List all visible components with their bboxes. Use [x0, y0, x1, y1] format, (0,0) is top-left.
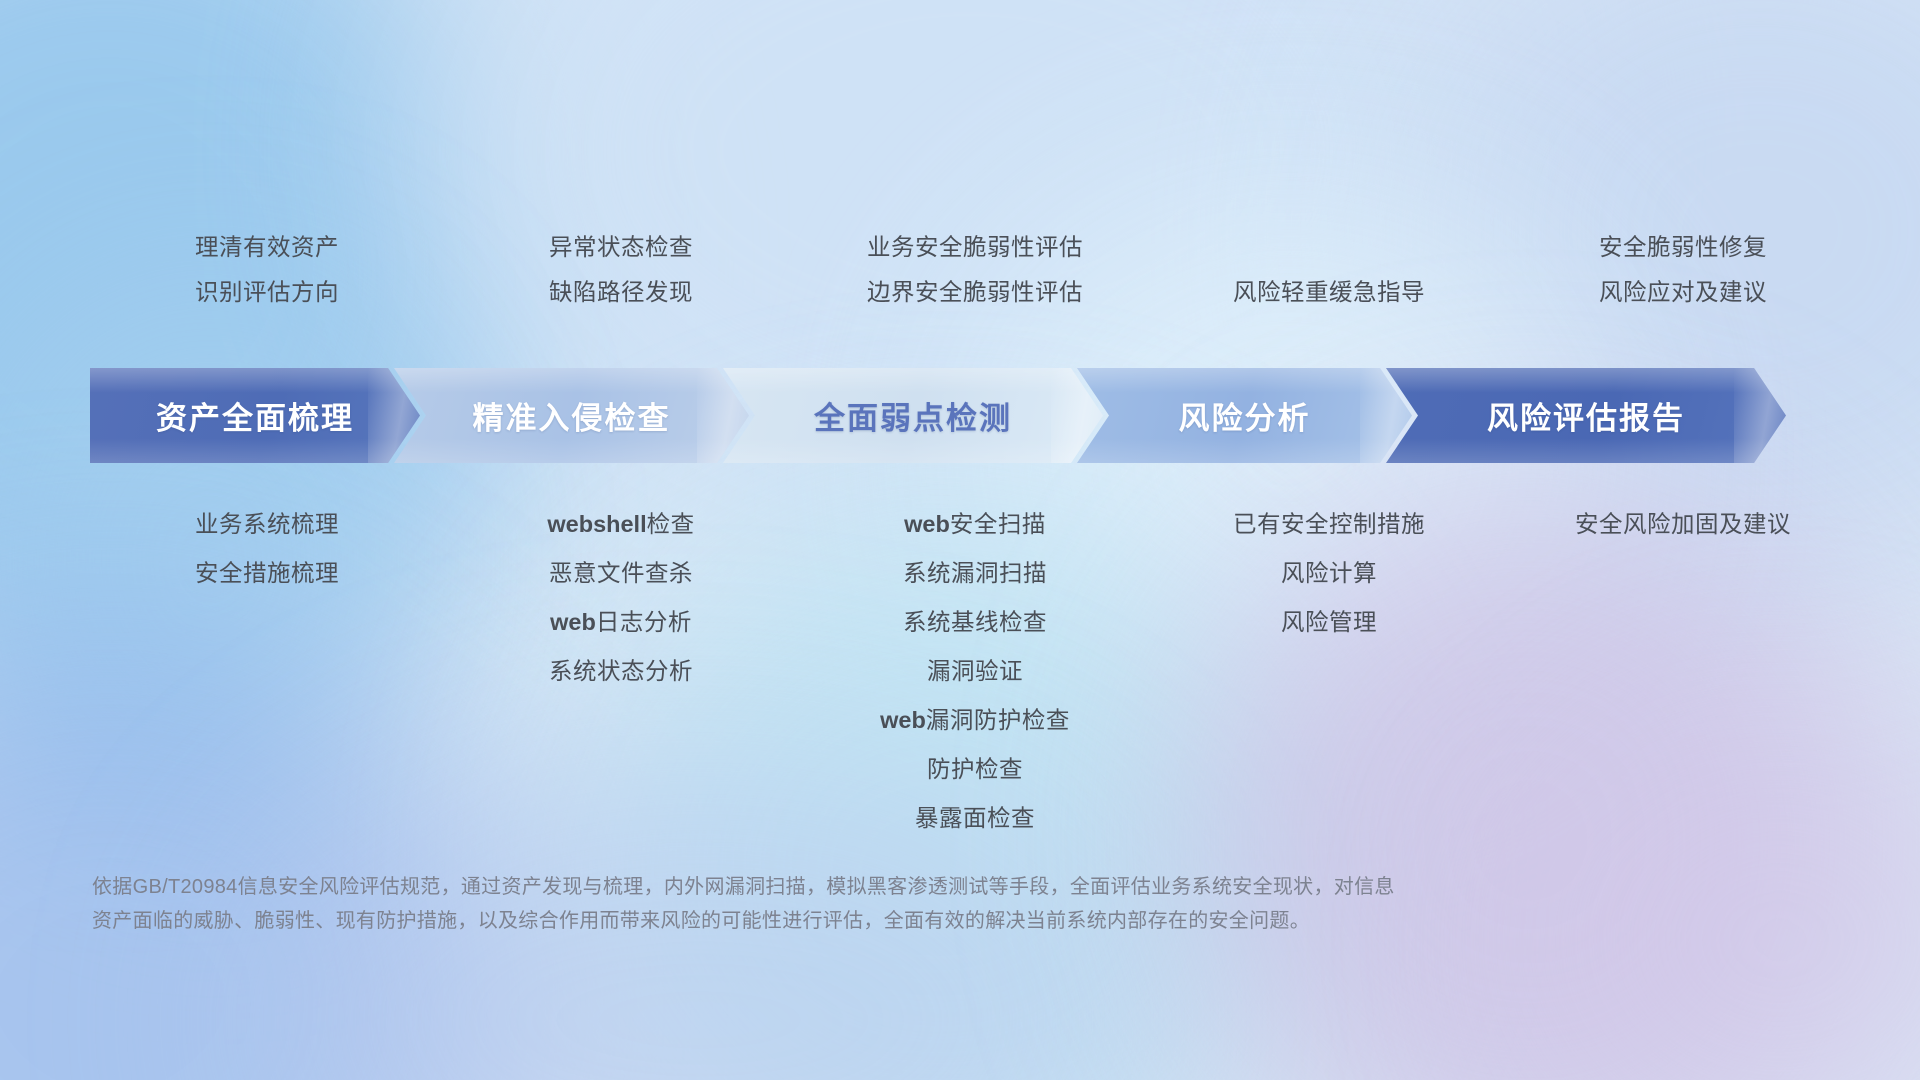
note-item: 边界安全脆弱性评估: [867, 270, 1083, 315]
stage-arrow-risk-analysis[interactable]: 风险分析: [1077, 368, 1412, 463]
stage-arrow-label: 全面弱点检测: [814, 393, 1012, 438]
bottom-notes-asset-inventory: 业务系统梳理安全措施梳理: [90, 500, 444, 850]
note-item: 缺陷路径发现: [549, 270, 693, 315]
note-text: 安全风险加固及建议: [1575, 511, 1791, 537]
top-notes-risk-report: 安全脆弱性修复风险应对及建议: [1506, 225, 1860, 335]
stage-arrow-risk-report[interactable]: 风险评估报告: [1386, 368, 1786, 463]
note-item: 防护检查: [927, 745, 1023, 794]
note-item: 已有安全控制措施: [1233, 500, 1425, 549]
note-text: 恶意文件查杀: [549, 560, 693, 586]
note-text: 漏洞防护检查: [926, 707, 1070, 733]
note-item: 理清有效资产: [195, 225, 339, 270]
note-item: 安全措施梳理: [195, 549, 339, 598]
note-item: 风险管理: [1281, 598, 1377, 647]
footer-line-2: 资产面临的威胁、脆弱性、现有防护措施，以及综合作用而带来风险的可能性进行评估，全…: [92, 904, 1652, 938]
note-text: 已有安全控制措施: [1233, 511, 1425, 537]
note-item: 业务系统梳理: [195, 500, 339, 549]
stage-arrow-label: 风险分析: [1179, 393, 1311, 438]
note-text: 业务系统梳理: [195, 511, 339, 537]
note-item: 异常状态检查: [549, 225, 693, 270]
bottom-notes-risk-report: 安全风险加固及建议: [1506, 500, 1860, 850]
note-item: web日志分析: [550, 598, 692, 647]
note-item: 恶意文件查杀: [549, 549, 693, 598]
note-item: 漏洞验证: [927, 647, 1023, 696]
stage-arrow-asset-inventory[interactable]: 资产全面梳理: [90, 368, 420, 463]
note-item: 风险应对及建议: [1599, 270, 1767, 315]
note-text: 系统基线检查: [903, 609, 1047, 635]
process-arrow-banner: 资产全面梳理精准入侵检查全面弱点检测风险分析风险评估报告: [90, 368, 1860, 463]
note-keyword: web: [880, 707, 926, 733]
stage-arrow-label: 风险评估报告: [1487, 393, 1685, 438]
note-item: 业务安全脆弱性评估: [867, 225, 1083, 270]
top-notes-row: 理清有效资产识别评估方向异常状态检查缺陷路径发现业务安全脆弱性评估边界安全脆弱性…: [90, 225, 1860, 335]
note-item: 系统基线检查: [903, 598, 1047, 647]
note-text: 暴露面检查: [915, 805, 1035, 831]
note-item: webshell检查: [547, 500, 694, 549]
footer-line-1: 依据GB/T20984信息安全风险评估规范，通过资产发现与梳理，内外网漏洞扫描，…: [92, 870, 1652, 904]
note-text: 防护检查: [927, 756, 1023, 782]
note-item: 风险计算: [1281, 549, 1377, 598]
note-item: 暴露面检查: [915, 794, 1035, 843]
stage-arrow-weakness-detection[interactable]: 全面弱点检测: [723, 368, 1103, 463]
note-item: web安全扫描: [904, 500, 1046, 549]
note-item: 安全风险加固及建议: [1575, 500, 1791, 549]
note-text: 系统漏洞扫描: [903, 560, 1047, 586]
bottom-notes-risk-analysis: 已有安全控制措施风险计算风险管理: [1152, 500, 1506, 850]
top-notes-weakness-detection: 业务安全脆弱性评估边界安全脆弱性评估: [798, 225, 1152, 335]
top-notes-intrusion-check: 异常状态检查缺陷路径发现: [444, 225, 798, 335]
note-item: 识别评估方向: [195, 270, 339, 315]
note-keyword: webshell: [547, 511, 646, 537]
top-notes-asset-inventory: 理清有效资产识别评估方向: [90, 225, 444, 335]
bottom-notes-intrusion-check: webshell检查恶意文件查杀web日志分析系统状态分析: [444, 500, 798, 850]
note-text: 风险计算: [1281, 560, 1377, 586]
stage-arrow-label: 资产全面梳理: [156, 393, 354, 438]
arrow-tip-highlight: [1734, 368, 1786, 463]
bottom-notes-weakness-detection: web安全扫描系统漏洞扫描系统基线检查漏洞验证web漏洞防护检查防护检查暴露面检…: [798, 500, 1152, 850]
note-keyword: web: [904, 511, 950, 537]
top-notes-risk-analysis: 风险轻重缓急指导: [1152, 225, 1506, 335]
bottom-notes-row: 业务系统梳理安全措施梳理webshell检查恶意文件查杀web日志分析系统状态分…: [90, 500, 1860, 850]
stage-arrow-label: 精准入侵检查: [473, 393, 671, 438]
note-text: 安全措施梳理: [195, 560, 339, 586]
note-text: 风险管理: [1281, 609, 1377, 635]
note-item: 风险轻重缓急指导: [1233, 270, 1425, 315]
note-text: 检查: [647, 511, 695, 537]
stage-arrow-intrusion-check[interactable]: 精准入侵检查: [394, 368, 749, 463]
note-item: web漏洞防护检查: [880, 696, 1070, 745]
note-item: 系统状态分析: [549, 647, 693, 696]
infographic-stage: 理清有效资产识别评估方向异常状态检查缺陷路径发现业务安全脆弱性评估边界安全脆弱性…: [0, 0, 1920, 1080]
note-text: 日志分析: [596, 609, 692, 635]
note-item: 系统漏洞扫描: [903, 549, 1047, 598]
note-text: 系统状态分析: [549, 658, 693, 684]
note-keyword: web: [550, 609, 596, 635]
footer-description: 依据GB/T20984信息安全风险评估规范，通过资产发现与梳理，内外网漏洞扫描，…: [92, 870, 1652, 938]
note-item: 安全脆弱性修复: [1599, 225, 1767, 270]
note-text: 安全扫描: [950, 511, 1046, 537]
note-text: 漏洞验证: [927, 658, 1023, 684]
